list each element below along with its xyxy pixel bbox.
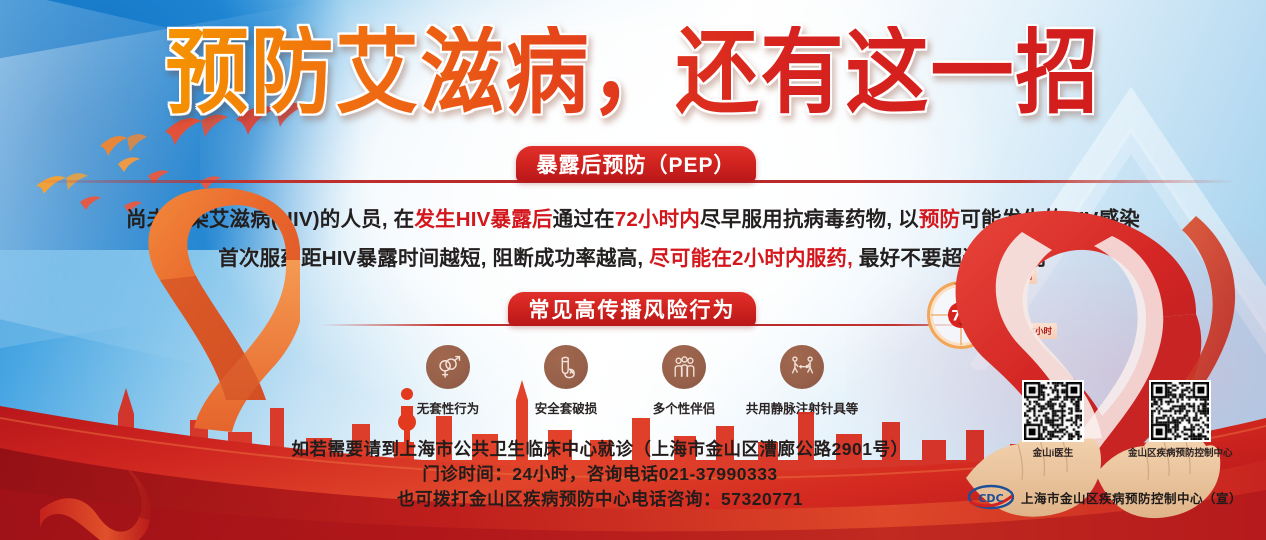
cdc-logo-text: CDC: [978, 492, 1003, 505]
contact-line-1: 如若需要请到上海市公共卫生临床中心就诊（上海市金山区漕廊公路2901号）: [250, 436, 950, 461]
banner-pep-label: 暴露后预防（PEP）: [536, 149, 735, 179]
poster-title: 预防艾滋病，还有这一招: [0, 26, 1266, 119]
qr-code-caption: 金山i医生: [1033, 445, 1074, 459]
banner-pep: 暴露后预防（PEP）: [516, 146, 756, 182]
qr-code-caption: 金山区疾病预防控制中心: [1128, 445, 1233, 459]
poster-canvas: 预防艾滋病，还有这一招 暴露后预防（PEP） 尚未感染艾滋病(HIV)的人员, …: [0, 0, 1266, 540]
highlight-text: 72小时内: [615, 208, 700, 231]
cdc-logo-icon: CDC: [968, 484, 1014, 510]
body-text: 通过在: [553, 208, 615, 231]
qr-code-image[interactable]: [1149, 380, 1211, 442]
qr-code-jinshan-cdc[interactable]: 金山区疾病预防控制中心: [1128, 380, 1233, 459]
contact-line-3: 也可拨打金山区疾病预防中心电话咨询：57320771: [250, 486, 950, 511]
contact-line-2: 门诊时间：24小时，咨询电话021-37990333: [250, 461, 950, 486]
highlight-text: 尽可能在2小时内服药,: [649, 247, 853, 270]
qr-code-image[interactable]: [1022, 380, 1084, 442]
footer-credit: CDC 上海市金山区疾病预防控制中心（宣）: [968, 484, 1242, 510]
highlight-text: 发生HIV暴露后: [414, 208, 552, 231]
qr-code-jinshan-doctor[interactable]: 金山i医生: [1022, 380, 1084, 459]
footer-org-name: 上海市金山区疾病预防控制中心（宣）: [1021, 488, 1242, 507]
